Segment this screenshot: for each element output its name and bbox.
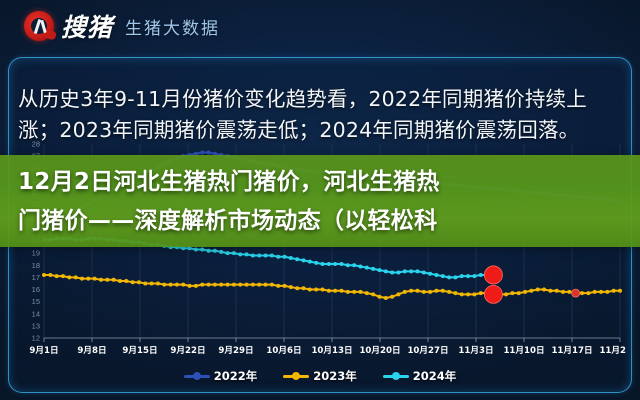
data-point — [618, 289, 622, 293]
data-point — [555, 289, 559, 293]
data-point — [302, 258, 306, 262]
data-point — [523, 290, 527, 294]
chart-legend: 2022年2023年2024年 — [0, 368, 640, 384]
y-axis-tick: 14 — [32, 309, 40, 318]
data-point — [434, 273, 438, 277]
data-point — [93, 277, 97, 281]
y-axis-tick: 17 — [32, 273, 40, 282]
data-point — [327, 289, 331, 293]
data-point — [219, 250, 223, 254]
data-point — [251, 283, 255, 287]
data-point — [377, 295, 381, 299]
data-point — [333, 262, 337, 266]
data-point — [74, 275, 78, 279]
data-point — [219, 283, 223, 287]
data-point — [339, 262, 343, 266]
x-axis-label: 10月27日 — [407, 345, 448, 356]
data-point — [409, 269, 413, 273]
legend-swatch-icon — [283, 375, 309, 378]
data-point — [67, 275, 71, 279]
data-point — [504, 292, 508, 296]
data-point — [472, 274, 476, 278]
x-axis-label: 10月20日 — [359, 345, 400, 356]
brand-subtitle: 生猪大数据 — [125, 14, 220, 39]
data-point — [86, 277, 90, 281]
data-point — [371, 292, 375, 296]
data-point — [390, 295, 394, 299]
data-point — [612, 289, 616, 293]
data-point — [131, 280, 135, 284]
data-point — [605, 290, 609, 294]
data-point — [213, 283, 217, 287]
legend-item-2022年[interactable]: 2022年 — [184, 368, 258, 384]
data-point — [48, 273, 52, 277]
data-point — [308, 288, 312, 292]
y-axis-tick: 18 — [32, 261, 40, 270]
data-point — [333, 289, 337, 293]
data-point — [200, 150, 204, 154]
data-point — [61, 274, 65, 278]
data-point — [321, 262, 325, 266]
data-point — [466, 292, 470, 296]
data-point — [207, 283, 211, 287]
data-point — [428, 290, 432, 294]
legend-swatch-icon — [383, 375, 409, 378]
x-axis-label: 11月3日 — [458, 345, 493, 356]
data-point — [295, 257, 299, 261]
data-point — [264, 254, 268, 258]
data-point — [434, 289, 438, 293]
overlay-title-line1: 12月2日河北生猪热门猪价，河北生猪热 — [18, 163, 622, 202]
x-axis-label: 10月6日 — [266, 345, 301, 356]
data-point — [460, 274, 464, 278]
data-point — [251, 254, 255, 258]
data-point — [245, 252, 249, 256]
data-point — [226, 251, 230, 255]
data-point — [352, 290, 356, 294]
x-axis-label: 9月8日 — [77, 345, 106, 356]
data-point — [428, 272, 432, 276]
marker-2024-end — [484, 266, 502, 284]
data-point — [257, 283, 261, 287]
data-point — [200, 247, 204, 251]
data-point — [314, 261, 318, 265]
data-point — [384, 269, 388, 273]
data-point — [352, 263, 356, 267]
data-point — [517, 291, 521, 295]
data-point — [327, 262, 331, 266]
legend-label: 2024年 — [413, 368, 457, 384]
data-point — [257, 254, 261, 258]
data-point — [283, 255, 287, 259]
overlay-title-line2: 门猪价——深度解析市场动态（以轻松科 — [18, 202, 622, 241]
data-point — [371, 267, 375, 271]
data-point — [181, 283, 185, 287]
data-point — [377, 268, 381, 272]
data-point — [390, 271, 394, 275]
overlay-title: 12月2日河北生猪热门猪价，河北生猪热 门猪价——深度解析市场动态（以轻松科 — [0, 158, 640, 246]
data-point — [124, 279, 128, 283]
data-point — [415, 289, 419, 293]
data-point — [599, 290, 603, 294]
data-point — [321, 288, 325, 292]
data-point — [226, 283, 230, 287]
data-point — [276, 284, 280, 288]
data-point — [118, 279, 122, 283]
x-axis-label: 11月10日 — [503, 345, 544, 356]
data-point — [276, 255, 280, 259]
data-point — [283, 284, 287, 288]
data-point — [55, 274, 59, 278]
data-point — [561, 290, 565, 294]
data-point — [143, 281, 147, 285]
y-axis-tick: 16 — [32, 285, 40, 294]
data-point — [460, 292, 464, 296]
data-point — [207, 249, 211, 253]
x-axis-label: 11月17日 — [551, 345, 592, 356]
y-axis-tick: 15 — [32, 297, 40, 306]
data-point — [403, 269, 407, 273]
data-point — [169, 283, 173, 287]
data-point — [384, 296, 388, 300]
data-point — [346, 290, 350, 294]
legend-item-2024年[interactable]: 2024年 — [383, 368, 457, 384]
data-point — [396, 292, 400, 296]
x-axis-label: 9月15日 — [122, 345, 157, 356]
x-axis-label: 9月22日 — [170, 345, 205, 356]
brand-name: 搜猪 — [61, 8, 113, 44]
data-point — [99, 278, 103, 282]
data-point — [194, 284, 198, 288]
data-point — [238, 283, 242, 287]
data-point — [580, 291, 584, 295]
data-point — [396, 271, 400, 275]
data-point — [188, 284, 192, 288]
data-point — [479, 273, 483, 277]
marker-2023-late — [572, 289, 580, 297]
data-point — [302, 286, 306, 290]
data-point — [422, 290, 426, 294]
app-header: 搜猪 生猪大数据 — [0, 0, 640, 52]
data-point — [207, 150, 211, 154]
legend-item-2023年[interactable]: 2023年 — [283, 368, 357, 384]
data-point — [447, 290, 451, 294]
data-point — [548, 289, 552, 293]
data-point — [466, 274, 470, 278]
data-point — [245, 283, 249, 287]
data-point — [441, 289, 445, 293]
data-point — [365, 266, 369, 270]
data-point — [365, 291, 369, 295]
data-point — [175, 283, 179, 287]
data-point — [200, 283, 204, 287]
data-point — [232, 283, 236, 287]
x-axis-label: 9月29日 — [218, 345, 253, 356]
x-axis-label: 9月1日 — [29, 345, 58, 356]
data-point — [42, 273, 46, 277]
data-point — [586, 291, 590, 295]
data-point — [162, 283, 166, 287]
data-point — [479, 291, 483, 295]
data-point — [529, 289, 533, 293]
x-axis-label: 11月24日 — [599, 345, 626, 356]
souzhu-logo-icon — [24, 11, 54, 41]
y-axis-tick: 12 — [32, 334, 40, 343]
y-axis-tick: 28 — [32, 140, 40, 149]
data-point — [542, 288, 546, 292]
data-point — [593, 290, 597, 294]
marker-2023-mid — [484, 285, 502, 303]
data-point — [453, 275, 457, 279]
x-axis-label: 10月13日 — [311, 345, 352, 356]
legend-swatch-icon — [184, 375, 210, 378]
data-point — [510, 291, 514, 295]
y-axis-tick: 19 — [32, 249, 40, 258]
data-point — [403, 290, 407, 294]
data-point — [270, 283, 274, 287]
data-point — [441, 274, 445, 278]
data-point — [105, 278, 109, 282]
data-point — [346, 263, 350, 267]
data-point — [472, 292, 476, 296]
y-axis-tick: 13 — [32, 321, 40, 330]
legend-label: 2023年 — [313, 368, 357, 384]
data-point — [137, 280, 141, 284]
data-point — [536, 288, 540, 292]
data-point — [156, 281, 160, 285]
data-point — [358, 264, 362, 268]
headline-text: 从历史3年9-11月份猪价变化趋势看，2022年同期猪价持续上涨；2023年同期… — [18, 84, 622, 146]
data-point — [295, 286, 299, 290]
data-point — [308, 260, 312, 264]
data-point — [112, 278, 116, 282]
screenshot-root: 搜猪 生猪大数据 从历史3年9-11月份猪价变化趋势看，2022年同期猪价持续上… — [0, 0, 640, 400]
data-point — [232, 251, 236, 255]
data-point — [567, 290, 571, 294]
data-point — [415, 269, 419, 273]
data-point — [358, 290, 362, 294]
data-point — [314, 288, 318, 292]
data-point — [213, 249, 217, 253]
data-point — [409, 289, 413, 293]
data-point — [453, 291, 457, 295]
data-point — [264, 283, 268, 287]
data-point — [80, 277, 84, 281]
data-point — [339, 289, 343, 293]
data-point — [194, 247, 198, 251]
data-point — [289, 285, 293, 289]
data-point — [150, 281, 154, 285]
data-point — [447, 275, 451, 279]
data-point — [238, 252, 242, 256]
data-point — [422, 271, 426, 275]
legend-label: 2022年 — [214, 368, 258, 384]
data-point — [289, 256, 293, 260]
data-point — [270, 254, 274, 258]
